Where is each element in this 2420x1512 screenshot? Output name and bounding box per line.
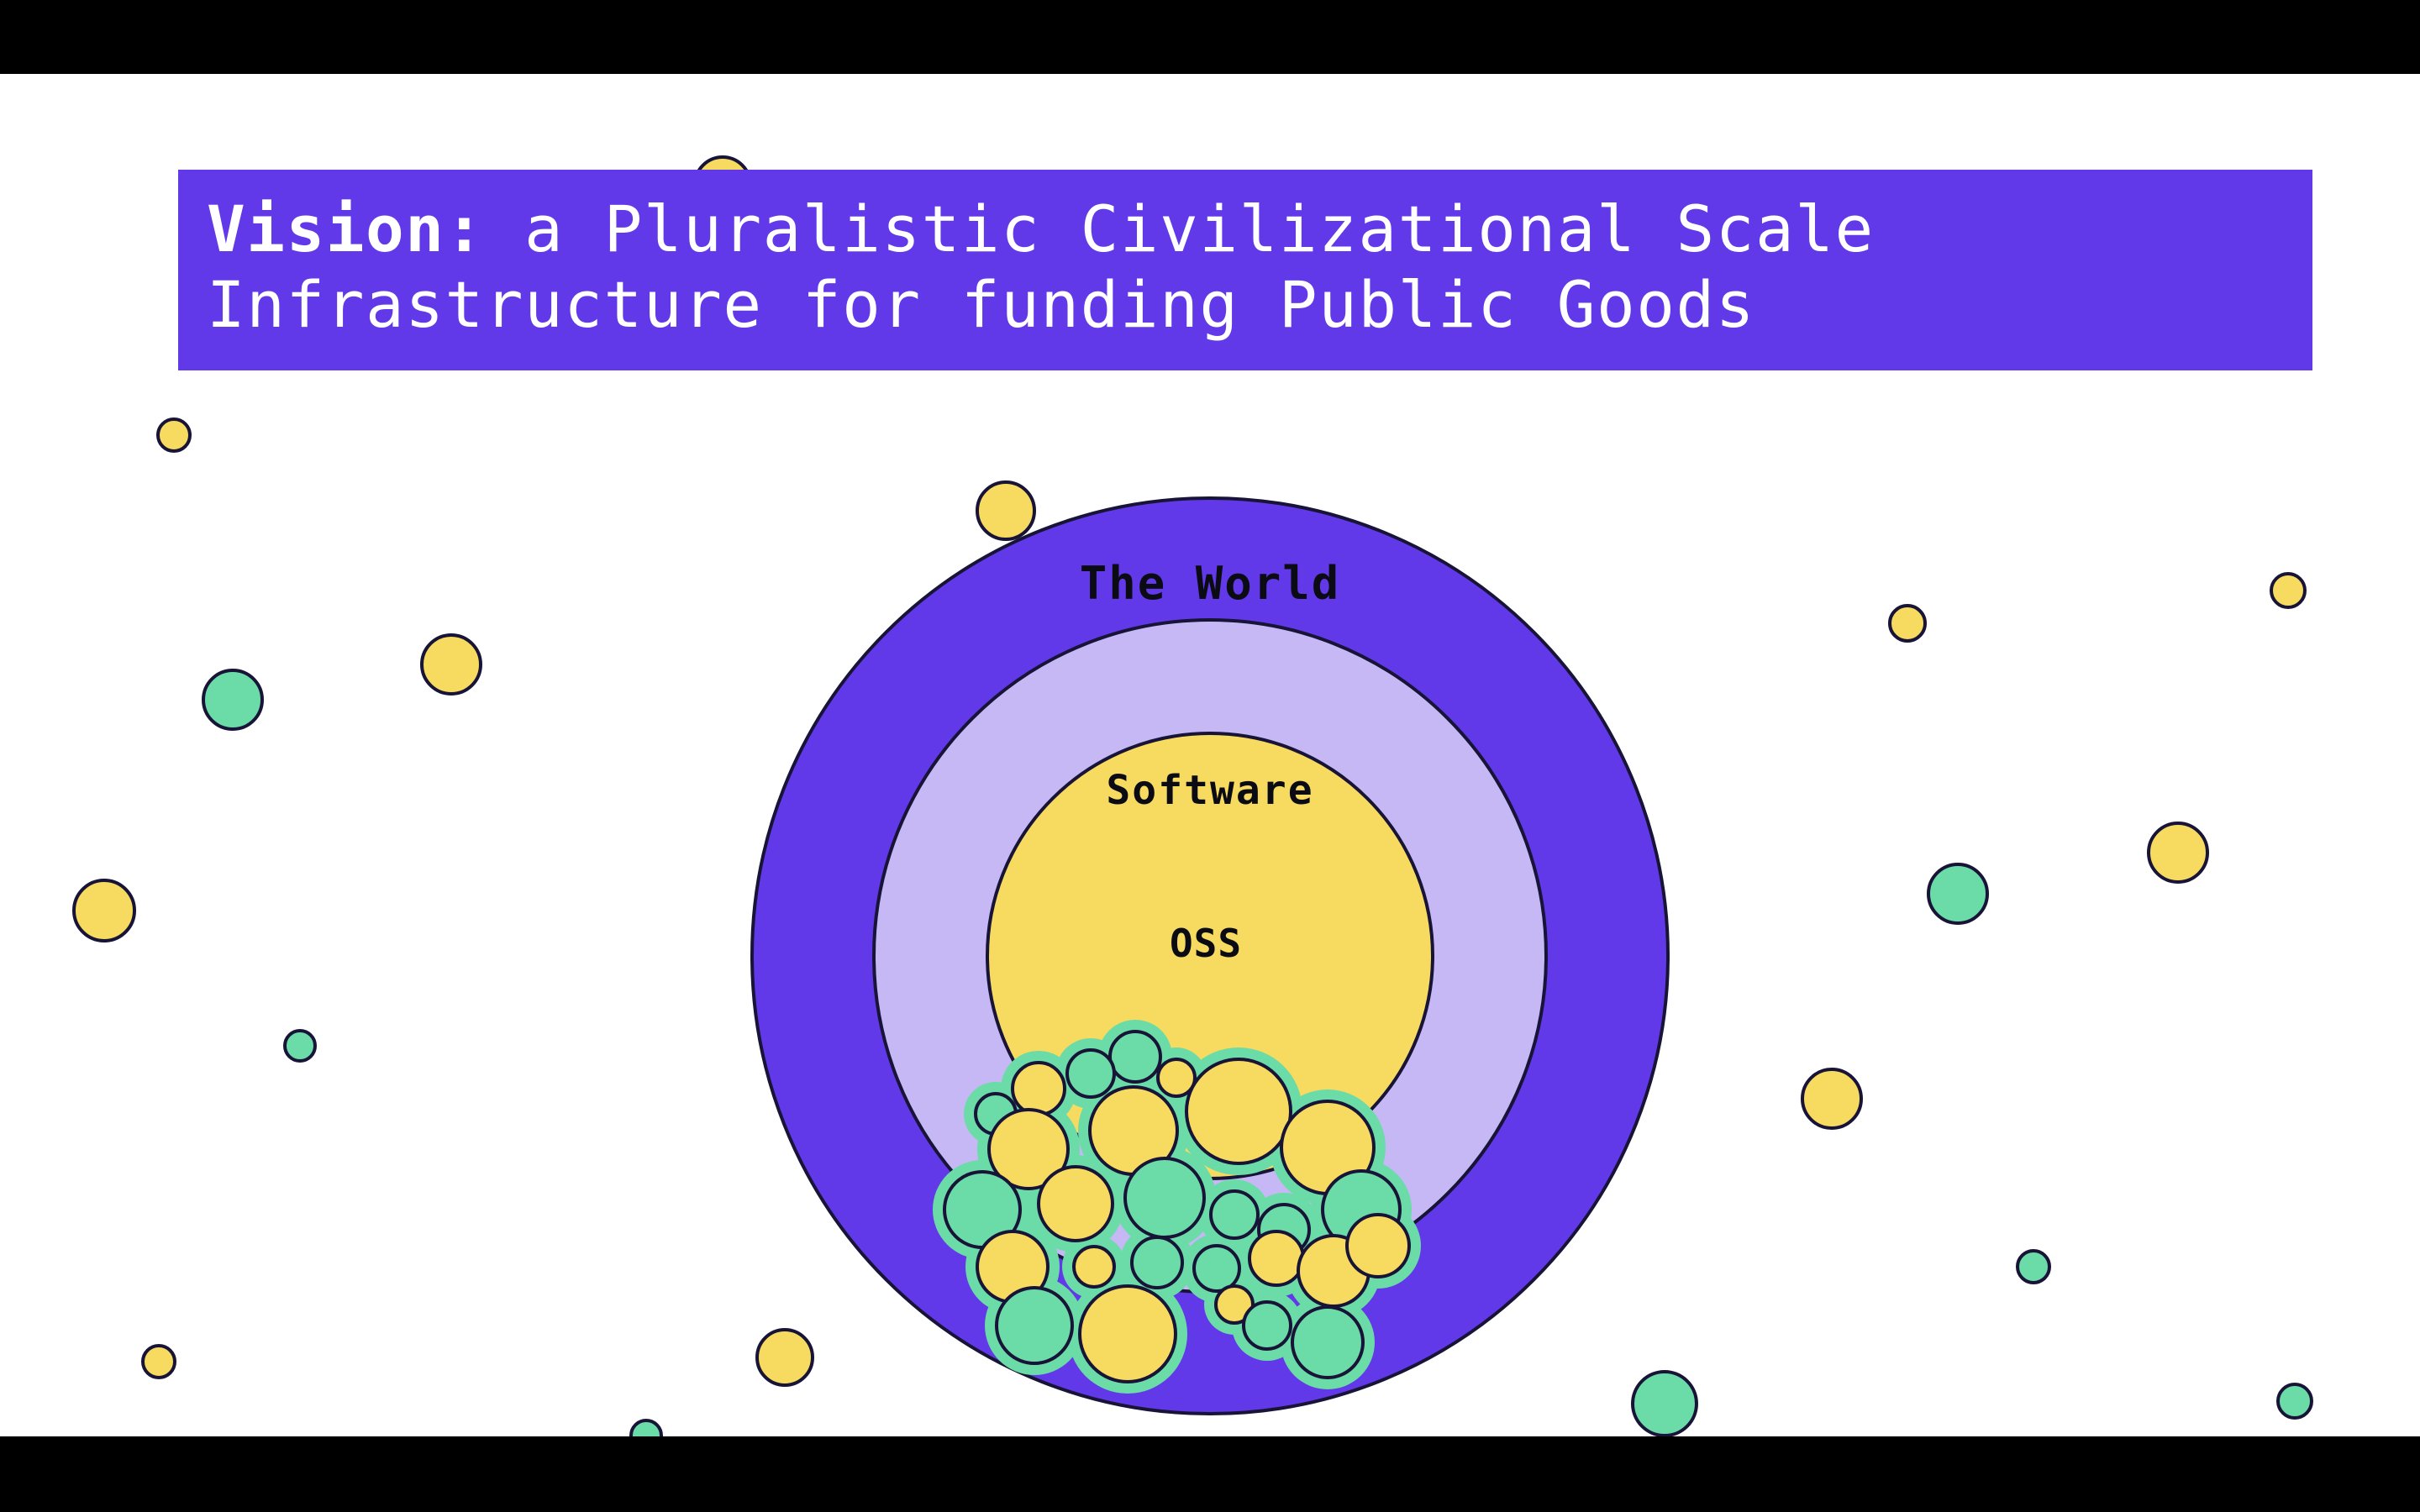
confetti-dot (420, 633, 482, 696)
oss-bubble (1347, 1215, 1409, 1277)
oss-bubble (1067, 1050, 1114, 1097)
confetti-dot (202, 669, 264, 731)
ring-label-oss: OSS (1170, 921, 1242, 966)
confetti-dot (1888, 604, 1927, 643)
confetti-dot (1927, 863, 1989, 925)
oss-bubble (1110, 1032, 1160, 1082)
banner-lead-word: Vision: (207, 192, 485, 266)
vision-title-banner: Vision: a Pluralistic Civilizational Sca… (178, 170, 2312, 370)
confetti-dot (156, 417, 192, 453)
nested-circles-diagram: The World Software OSS (739, 486, 1681, 1426)
ring-label-world: The World (1080, 557, 1341, 610)
banner-line-1-rest: a Pluralistic Civilizational Scale (485, 192, 1875, 266)
oss-bubble (1249, 1231, 1303, 1285)
oss-bubble (1013, 1063, 1065, 1115)
oss-bubble (1039, 1167, 1113, 1241)
slide-canvas: The World Software OSS Vision: a Plurali… (0, 74, 2420, 1436)
oss-bubble (1074, 1247, 1114, 1287)
oss-bubble (1244, 1302, 1291, 1349)
confetti-dot (2270, 572, 2307, 609)
oss-bubble (1125, 1158, 1204, 1237)
confetti-dot (72, 879, 136, 942)
oss-bubble (1211, 1191, 1258, 1238)
ring-label-software: Software (1106, 767, 1313, 814)
letterbox-top-bar (0, 0, 2420, 74)
oss-bubble (997, 1288, 1072, 1363)
confetti-dot (2016, 1249, 2051, 1284)
banner-line-1: Vision: a Pluralistic Civilizational Sca… (207, 192, 2284, 267)
slide-stage: The World Software OSS Vision: a Plurali… (0, 0, 2420, 1512)
oss-bubble (1132, 1237, 1182, 1288)
letterbox-bottom-bar (0, 1436, 2420, 1512)
confetti-dot (1801, 1068, 1863, 1130)
confetti-dot (283, 1029, 317, 1063)
oss-bubble (1080, 1286, 1176, 1382)
confetti-dot (629, 1419, 663, 1436)
oss-bubble (1292, 1307, 1363, 1378)
oss-bubble (1194, 1246, 1239, 1291)
confetti-dot (2147, 822, 2209, 884)
oss-bubble (1186, 1059, 1291, 1163)
confetti-dot (2276, 1383, 2313, 1420)
banner-line-2: Infrastructure for funding Public Goods (207, 267, 2284, 343)
confetti-dot (141, 1344, 176, 1379)
